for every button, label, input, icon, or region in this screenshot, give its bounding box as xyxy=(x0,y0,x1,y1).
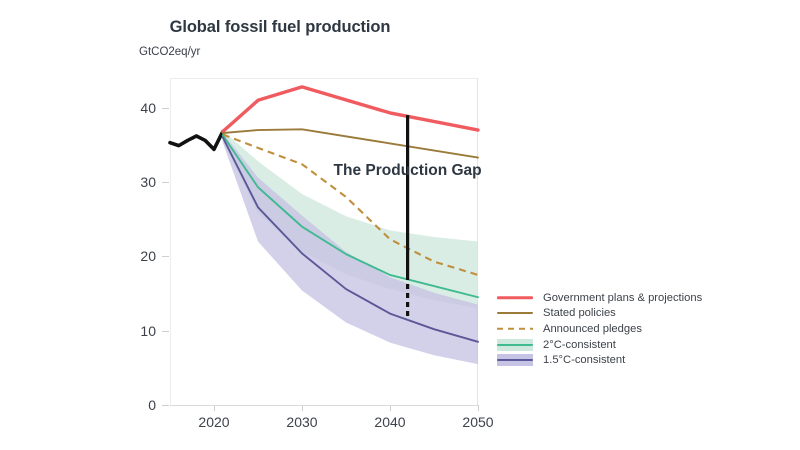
legend-item[interactable]: 1.5°C-consistent xyxy=(497,352,727,368)
legend-item[interactable]: Government plans & projections xyxy=(497,290,727,306)
legend-label: Government plans & projections xyxy=(543,292,702,304)
line-stated-policies xyxy=(223,129,478,157)
line-government-plans-projections xyxy=(223,87,478,132)
legend-label: Announced pledges xyxy=(543,323,642,335)
legend-item[interactable]: 2°C-consistent xyxy=(497,337,727,353)
y-tick-mark xyxy=(162,405,169,406)
legend-swatch-2c-consistent xyxy=(497,338,533,352)
y-tick-label: 10 xyxy=(112,323,156,339)
legend-label: 1.5°C-consistent xyxy=(543,354,625,366)
y-tick-label: 0 xyxy=(112,397,156,413)
legend-label: 2°C-consistent xyxy=(543,339,616,351)
chart-page: Global fossil fuel production GtCO2eq/yr… xyxy=(0,0,800,450)
legend-swatch-announced-pledges xyxy=(497,322,533,336)
y-tick-mark xyxy=(162,256,169,257)
y-axis-label: GtCO2eq/yr xyxy=(139,46,200,58)
x-tick-label: 2050 xyxy=(462,414,493,430)
x-tick-mark xyxy=(478,405,479,411)
chart-legend: Government plans & projections Stated po… xyxy=(497,290,727,368)
x-tick-label: 2030 xyxy=(286,414,317,430)
x-axis-line xyxy=(170,405,478,406)
production-gap-annotation: The Production Gap xyxy=(334,162,482,180)
legend-label: Stated policies xyxy=(543,307,616,319)
x-tick-label: 2040 xyxy=(374,414,405,430)
y-tick-label: 20 xyxy=(112,248,156,264)
legend-swatch-stated-policies xyxy=(497,306,533,320)
legend-swatch-15c-consistent xyxy=(497,353,533,367)
legend-item[interactable]: Stated policies xyxy=(497,306,727,322)
plot-area xyxy=(170,78,478,405)
chart-title: Global fossil fuel production xyxy=(0,18,560,37)
y-tick-mark xyxy=(162,108,169,109)
legend-swatch-government-plans xyxy=(497,291,533,305)
x-tick-label: 2020 xyxy=(198,414,229,430)
legend-item[interactable]: Announced pledges xyxy=(497,321,727,337)
y-tick-mark xyxy=(162,182,169,183)
y-tick-label: 30 xyxy=(112,174,156,190)
y-tick-label: 40 xyxy=(112,100,156,116)
chart-canvas xyxy=(170,78,478,405)
line-historical xyxy=(170,132,223,150)
y-tick-mark xyxy=(162,331,169,332)
